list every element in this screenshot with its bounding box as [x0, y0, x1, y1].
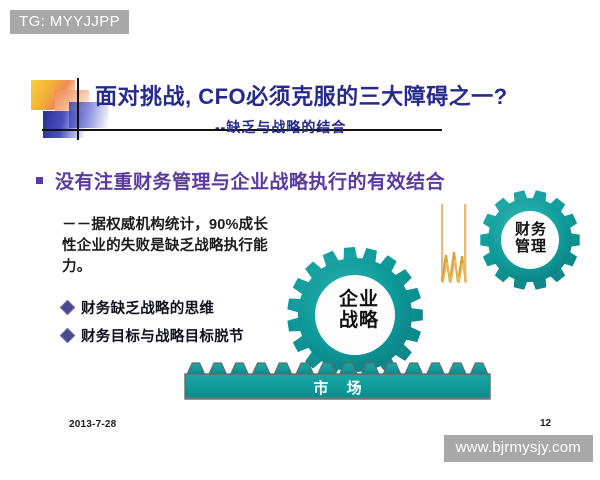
big-gear-label: 企业 战略: [323, 289, 395, 332]
page-title: 面对挑战, CFO必须克服的三大障碍之一?: [95, 79, 555, 111]
main-bullet: 没有注重财务管理与企业战略执行的有效结合: [36, 167, 445, 194]
spring-connector-icon: [441, 204, 466, 283]
page-number: 12: [540, 418, 551, 429]
sub-bullet-label: 财务缺乏战略的思维: [81, 297, 214, 318]
small-gear-label: 财务 管理: [501, 222, 561, 256]
watermark-bottom-right: www.bjrmysjy.com: [444, 435, 593, 462]
watermark-top-left: TG: MYYJJPP: [10, 10, 129, 34]
rack-label: 市 场: [185, 377, 490, 398]
main-bullet-label: 没有注重财务管理与企业战略执行的有效结合: [55, 167, 445, 194]
sub-bullet-label: 财务目标与战略目标脱节: [81, 325, 244, 346]
list-item: 财务目标与战略目标脱节: [62, 325, 312, 346]
statistic-paragraph: －－据权威机构统计，90%成长性企业的失败是缺乏战略执行能力。: [62, 215, 277, 278]
square-bullet-icon: [36, 177, 43, 184]
list-item: 财务缺乏战略的思维: [62, 297, 312, 318]
slide-canvas: 面对挑战, CFO必须克服的三大障碍之一? --缺乏与战略的结合 没有注重财务管…: [0, 0, 600, 480]
page-subtitle: --缺乏与战略的结合: [215, 117, 545, 137]
sub-bullet-list: 财务缺乏战略的思维 财务目标与战略目标脱节: [62, 297, 312, 353]
diamond-bullet-icon: [60, 328, 76, 344]
slide-date: 2013-7-28: [69, 419, 116, 430]
diamond-bullet-icon: [60, 300, 76, 316]
